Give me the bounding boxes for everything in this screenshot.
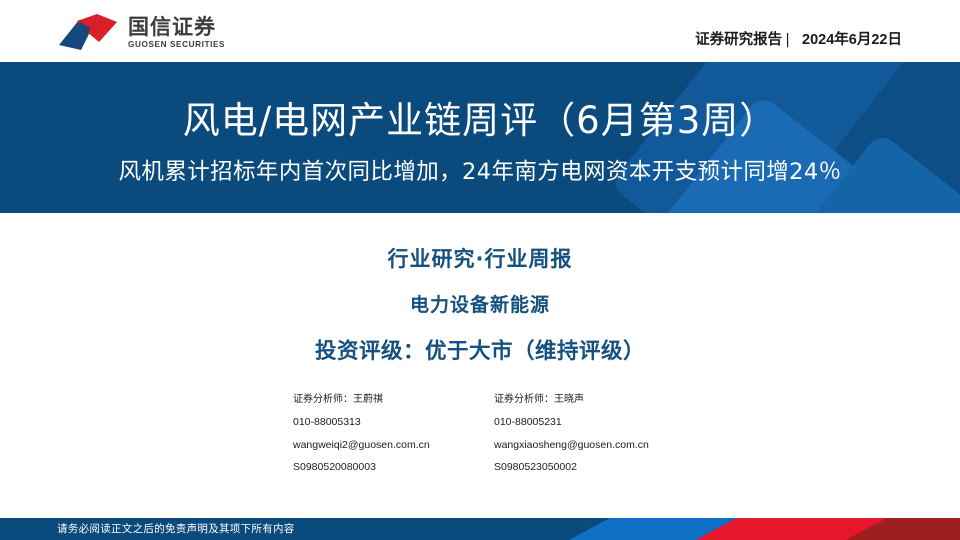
brand-wordmark: 国信证券 GUOSEN SECURITIES — [128, 17, 225, 49]
analyst-email[interactable]: wangxiaosheng@guosen.com.cn — [494, 440, 694, 451]
brand-name-en: GUOSEN SECURITIES — [128, 41, 225, 49]
brand-logo: 国信证券 GUOSEN SECURITIES — [57, 12, 225, 54]
page-title: 风电/电网产业链周评（6月第3周） — [183, 90, 778, 144]
header-meta: 证券研究报告 | 2024年6月22日 — [695, 28, 902, 49]
page-footer: 请务必阅读正文之后的免责声明及其项下所有内容 — [0, 518, 960, 540]
investment-rating: 投资评级：优于大市（维持评级） — [0, 334, 960, 365]
analyst-card: 证券分析师：王晓声 010-88005231 wangxiaosheng@guo… — [494, 395, 694, 473]
report-date: 2024年6月22日 — [802, 28, 902, 49]
report-type-label: 证券研究报告 — [695, 28, 782, 49]
research-category: 行业研究·行业周报 — [0, 243, 960, 273]
analyst-name: 证券分析师：王晓声 — [494, 395, 694, 405]
analyst-email[interactable]: wangweiqi2@guosen.com.cn — [293, 440, 493, 451]
page-subtitle: 风机累计招标年内首次同比增加，24年南方电网资本开支预计同增24％ — [119, 154, 842, 186]
industry-name: 电力设备新能源 — [0, 290, 960, 317]
report-cover-page: 国信证券 GUOSEN SECURITIES 证券研究报告 | 2024年6月2… — [0, 0, 960, 540]
header-separator: | — [785, 32, 790, 48]
analyst-license: S0980520080003 — [293, 462, 493, 473]
main-content: 行业研究·行业周报 电力设备新能源 投资评级：优于大市（维持评级） 证券分析师：… — [0, 213, 960, 518]
guosen-logo-icon — [57, 12, 121, 54]
title-banner: 风电/电网产业链周评（6月第3周） 风机累计招标年内首次同比增加，24年南方电网… — [0, 62, 960, 213]
analyst-card: 证券分析师：王蔚祺 010-88005313 wangweiqi2@guosen… — [293, 395, 493, 473]
page-header: 国信证券 GUOSEN SECURITIES 证券研究报告 | 2024年6月2… — [0, 0, 960, 62]
analyst-list: 证券分析师：王蔚祺 010-88005313 wangweiqi2@guosen… — [293, 395, 713, 473]
report-classification: 行业研究·行业周报 电力设备新能源 投资评级：优于大市（维持评级） — [0, 243, 960, 365]
analyst-phone: 010-88005313 — [293, 417, 493, 428]
analyst-phone: 010-88005231 — [494, 417, 694, 428]
brand-name-cn: 国信证券 — [128, 17, 225, 38]
analyst-name: 证券分析师：王蔚祺 — [293, 395, 493, 405]
banner-text-group: 风电/电网产业链周评（6月第3周） 风机累计招标年内首次同比增加，24年南方电网… — [0, 62, 960, 213]
footer-disclaimer: 请务必阅读正文之后的免责声明及其项下所有内容 — [57, 518, 295, 540]
analyst-license: S0980523050002 — [494, 462, 694, 473]
